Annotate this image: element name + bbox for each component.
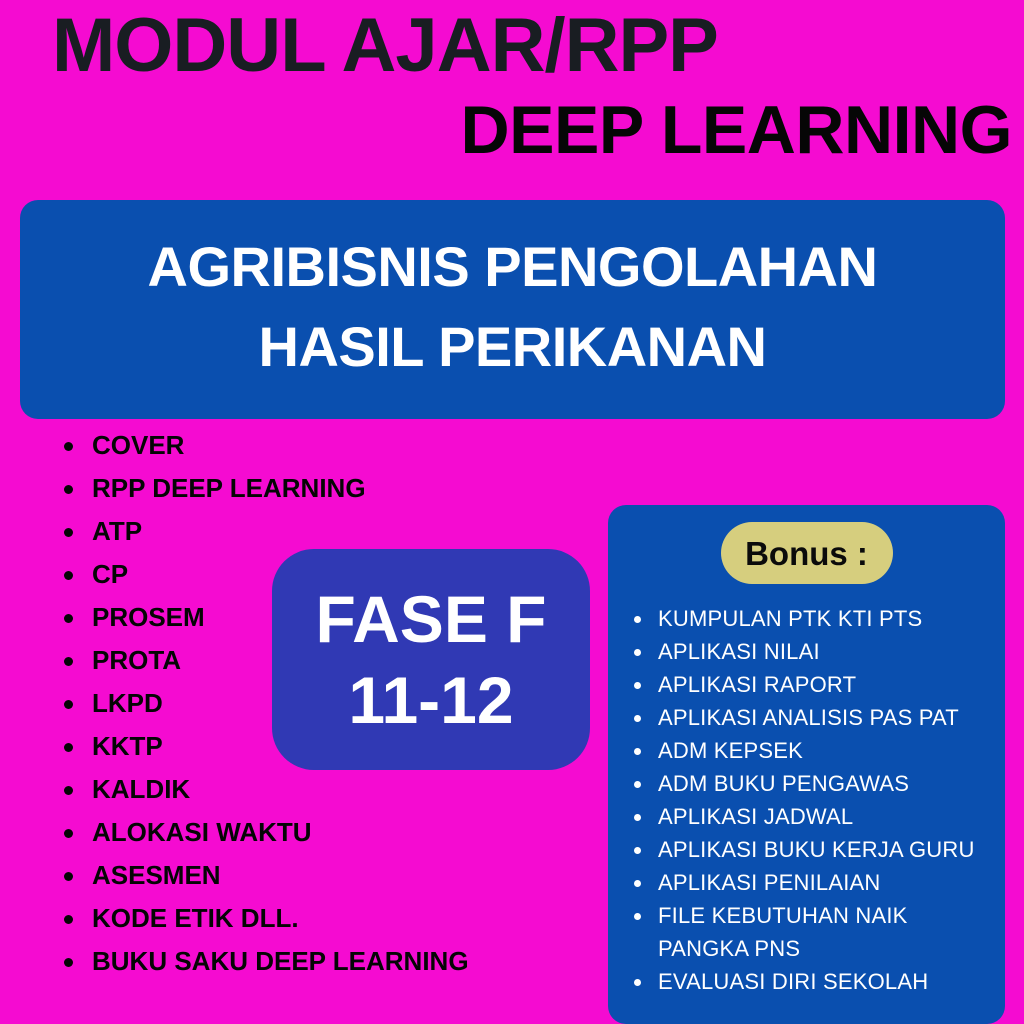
bonus-badge: Bonus : — [721, 522, 893, 584]
list-item: APLIKASI PENILAIAN — [622, 866, 995, 899]
bonus-badge-label: Bonus : — [745, 537, 868, 570]
subject-banner: AGRIBISNIS PENGOLAHAN HASIL PERIKANAN — [20, 200, 1005, 419]
list-item: KODE ETIK DLL. — [46, 897, 606, 940]
poster-canvas: MODUL AJAR/RPP DEEP LEARNING AGRIBISNIS … — [0, 0, 1024, 1024]
subject-banner-line-2: HASIL PERIKANAN — [259, 307, 767, 387]
list-item: APLIKASI BUKU KERJA GURU — [622, 833, 995, 866]
list-item: APLIKASI RAPORT — [622, 668, 995, 701]
subject-banner-line-1: AGRIBISNIS PENGOLAHAN — [148, 227, 878, 307]
list-item: ALOKASI WAKTU — [46, 811, 606, 854]
list-item: ADM BUKU PENGAWAS — [622, 767, 995, 800]
list-item: FILE KEBUTUHAN NAIK PANGKA PNS — [622, 899, 995, 965]
list-item: APLIKASI JADWAL — [622, 800, 995, 833]
list-item: ADM KEPSEK — [622, 734, 995, 767]
list-item: APLIKASI ANALISIS PAS PAT — [622, 701, 995, 734]
page-title-line-1: MODUL AJAR/RPP — [52, 8, 718, 84]
fase-badge-line-1: FASE F — [315, 579, 546, 660]
list-item: ATP — [46, 510, 606, 553]
bonus-panel: Bonus : KUMPULAN PTK KTI PTSAPLIKASI NIL… — [608, 505, 1005, 1024]
fase-badge: FASE F 11-12 — [272, 549, 590, 770]
list-item: COVER — [46, 424, 606, 467]
page-title-line-2: DEEP LEARNING — [0, 96, 1012, 164]
list-item: APLIKASI NILAI — [622, 635, 995, 668]
list-item: BUKU SAKU DEEP LEARNING — [46, 940, 606, 983]
bonus-list: KUMPULAN PTK KTI PTSAPLIKASI NILAIAPLIKA… — [608, 602, 1005, 998]
list-item: EVALUASI DIRI SEKOLAH — [622, 965, 995, 998]
poster-header: MODUL AJAR/RPP DEEP LEARNING — [0, 0, 1024, 190]
list-item: KUMPULAN PTK KTI PTS — [622, 602, 995, 635]
list-item: KALDIK — [46, 768, 606, 811]
list-item: RPP DEEP LEARNING — [46, 467, 606, 510]
fase-badge-line-2: 11-12 — [348, 660, 513, 741]
list-item: ASESMEN — [46, 854, 606, 897]
